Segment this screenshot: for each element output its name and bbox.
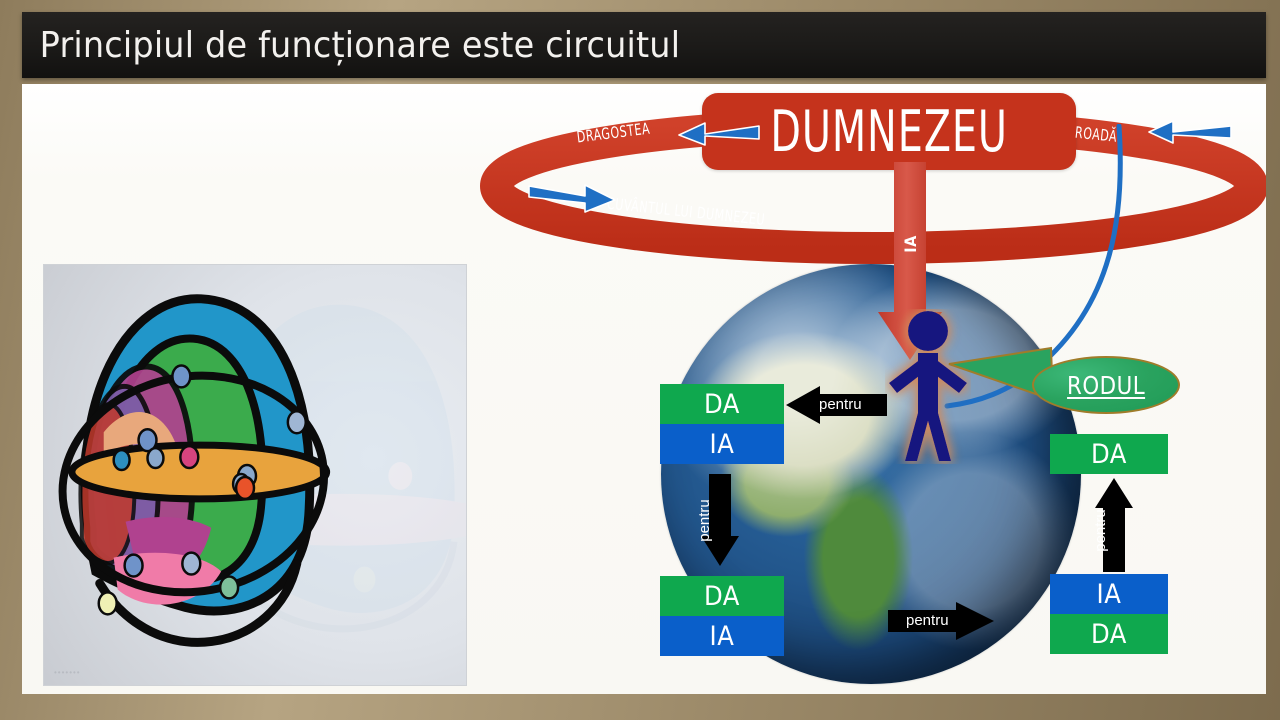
rodul-label: RODUL	[1067, 371, 1145, 400]
pentru-arrow-left: pentru	[784, 386, 889, 424]
blue-arrow-left-roada	[1147, 118, 1233, 149]
block-top-left: DA IA	[660, 384, 784, 464]
block-bottom-left: DA IA	[660, 576, 784, 656]
page-title: Principiul de funcționare este circuitul	[22, 25, 680, 66]
block-cell: IA	[660, 616, 784, 656]
pentru-arrow-label: pentru	[696, 499, 713, 542]
circuit-diagram: DUMNEZEU DRAGOSTEA CUVÂNTUL LUI DUMNEZEU…	[467, 84, 1266, 694]
block-top-right: DA	[1050, 434, 1168, 474]
blue-arrow-right-cuvantul	[527, 180, 617, 219]
abstract-loops-illustration: •••••••	[43, 264, 467, 686]
pentru-arrow-label: pentru	[906, 612, 949, 629]
slide-frame: Principiul de funcționare este circuitul	[0, 0, 1280, 720]
pentru-arrow-label: pentru	[819, 396, 862, 413]
abstract-loops-svg	[44, 265, 466, 685]
block-bottom-right: IA DA	[1050, 574, 1168, 654]
block-cell: DA	[1050, 614, 1168, 654]
pentru-arrow-down: pentru	[701, 474, 739, 568]
block-cell: IA	[1050, 574, 1168, 614]
slide-canvas: •••••••	[22, 84, 1266, 694]
rodul-callout[interactable]: RODUL	[1032, 356, 1180, 414]
ia-arrow-label: IA	[890, 210, 930, 278]
block-cell: DA	[660, 576, 784, 616]
blue-arrow-left-dragostea	[677, 120, 761, 151]
block-cell: DA	[1050, 434, 1168, 474]
block-cell: IA	[660, 424, 784, 464]
image-watermark: •••••••	[54, 668, 81, 677]
dumnezeu-label: DUMNEZEU	[770, 98, 1008, 164]
pentru-arrow-right: pentru	[886, 602, 996, 640]
block-cell: DA	[660, 384, 784, 424]
pentru-arrow-up: pentru	[1095, 476, 1133, 574]
pentru-arrow-label: pentru	[1092, 509, 1109, 552]
slide-title-bar: Principiul de funcționare este circuitul	[22, 12, 1266, 78]
